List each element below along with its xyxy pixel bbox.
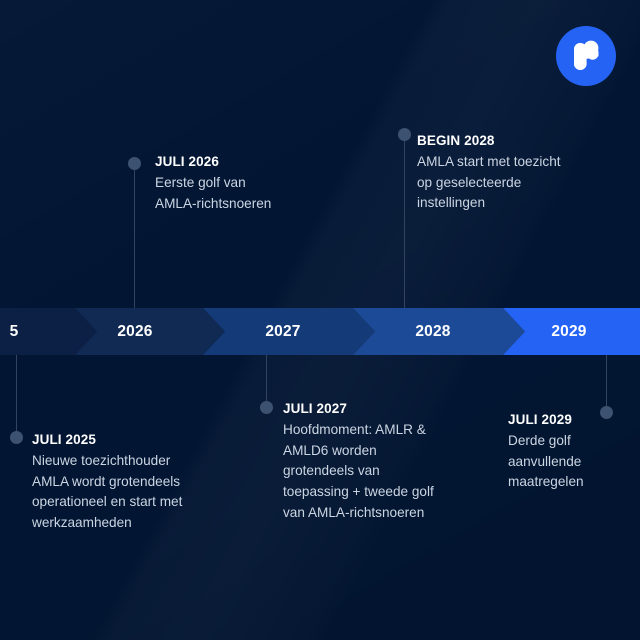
milestone-line: grotendeels van bbox=[283, 461, 434, 482]
timeline-infographic: 5 2026 2027 2028 2029 JULI 2026 Eerste g… bbox=[0, 0, 640, 640]
milestone-line: AMLA-richtsnoeren bbox=[155, 194, 271, 215]
milestone-title-juli-2027: JULI 2027 bbox=[283, 401, 434, 416]
milestone-line: werkzaamheden bbox=[32, 513, 182, 534]
milestone-juli-2029: JULI 2029 Derde golf aanvullende maatreg… bbox=[508, 412, 584, 493]
marker-dot-juli-2025 bbox=[10, 431, 23, 444]
milestone-line: Hoofdmoment: AMLR & bbox=[283, 420, 434, 441]
timeline-label-2027: 2027 bbox=[243, 308, 323, 355]
marker-dot-juli-2027 bbox=[260, 401, 273, 414]
milestone-line: AMLD6 worden bbox=[283, 441, 434, 462]
timeline-label-2026: 2026 bbox=[95, 308, 175, 355]
milestone-begin-2028: BEGIN 2028 AMLA start met toezicht op ge… bbox=[417, 133, 561, 214]
milestone-title-juli-2026: JULI 2026 bbox=[155, 154, 271, 169]
milestone-juli-2027: JULI 2027 Hoofdmoment: AMLR & AMLD6 word… bbox=[283, 401, 434, 523]
milestone-line: aanvullende bbox=[508, 452, 584, 473]
milestone-juli-2025: JULI 2025 Nieuwe toezichthouder AMLA wor… bbox=[32, 432, 182, 534]
milestone-body-juli-2029: Derde golf aanvullende maatregelen bbox=[508, 431, 584, 493]
connector-line-juli-2026 bbox=[134, 169, 135, 308]
milestone-line: instellingen bbox=[417, 193, 561, 214]
milestone-body-juli-2026: Eerste golf van AMLA-richtsnoeren bbox=[155, 173, 271, 214]
brand-logo[interactable] bbox=[556, 26, 616, 86]
milestone-body-juli-2025: Nieuwe toezichthouder AMLA wordt grotend… bbox=[32, 451, 182, 534]
timeline-label-2029: 2029 bbox=[529, 308, 609, 355]
milestone-line: maatregelen bbox=[508, 472, 584, 493]
milestone-title-begin-2028: BEGIN 2028 bbox=[417, 133, 561, 148]
timeline-label-2028: 2028 bbox=[393, 308, 473, 355]
milestone-line: operationeel en start met bbox=[32, 492, 182, 513]
connector-line-juli-2027 bbox=[266, 355, 267, 407]
milestone-line: toepassing + tweede golf bbox=[283, 482, 434, 503]
milestone-title-juli-2029: JULI 2029 bbox=[508, 412, 584, 427]
milestone-title-juli-2025: JULI 2025 bbox=[32, 432, 182, 447]
milestone-body-juli-2027: Hoofdmoment: AMLR & AMLD6 worden grotend… bbox=[283, 420, 434, 523]
milestone-line: AMLA wordt grotendeels bbox=[32, 472, 182, 493]
milestone-line: op geselecteerde bbox=[417, 173, 561, 194]
connector-line-begin-2028 bbox=[404, 140, 405, 308]
rabobank-r-logo-icon bbox=[556, 26, 616, 86]
milestone-line: Derde golf bbox=[508, 431, 584, 452]
milestone-line: Eerste golf van bbox=[155, 173, 271, 194]
timeline-label-2025: 5 bbox=[0, 308, 34, 355]
milestone-juli-2026: JULI 2026 Eerste golf van AMLA-richtsnoe… bbox=[155, 154, 271, 214]
marker-dot-juli-2026 bbox=[128, 157, 141, 170]
connector-line-juli-2025 bbox=[16, 355, 17, 437]
milestone-line: van AMLA-richtsnoeren bbox=[283, 503, 434, 524]
milestone-line: Nieuwe toezichthouder bbox=[32, 451, 182, 472]
milestone-line: AMLA start met toezicht bbox=[417, 152, 561, 173]
marker-dot-juli-2029 bbox=[600, 406, 613, 419]
marker-dot-begin-2028 bbox=[398, 128, 411, 141]
connector-line-juli-2029 bbox=[606, 355, 607, 412]
milestone-body-begin-2028: AMLA start met toezicht op geselecteerde… bbox=[417, 152, 561, 214]
